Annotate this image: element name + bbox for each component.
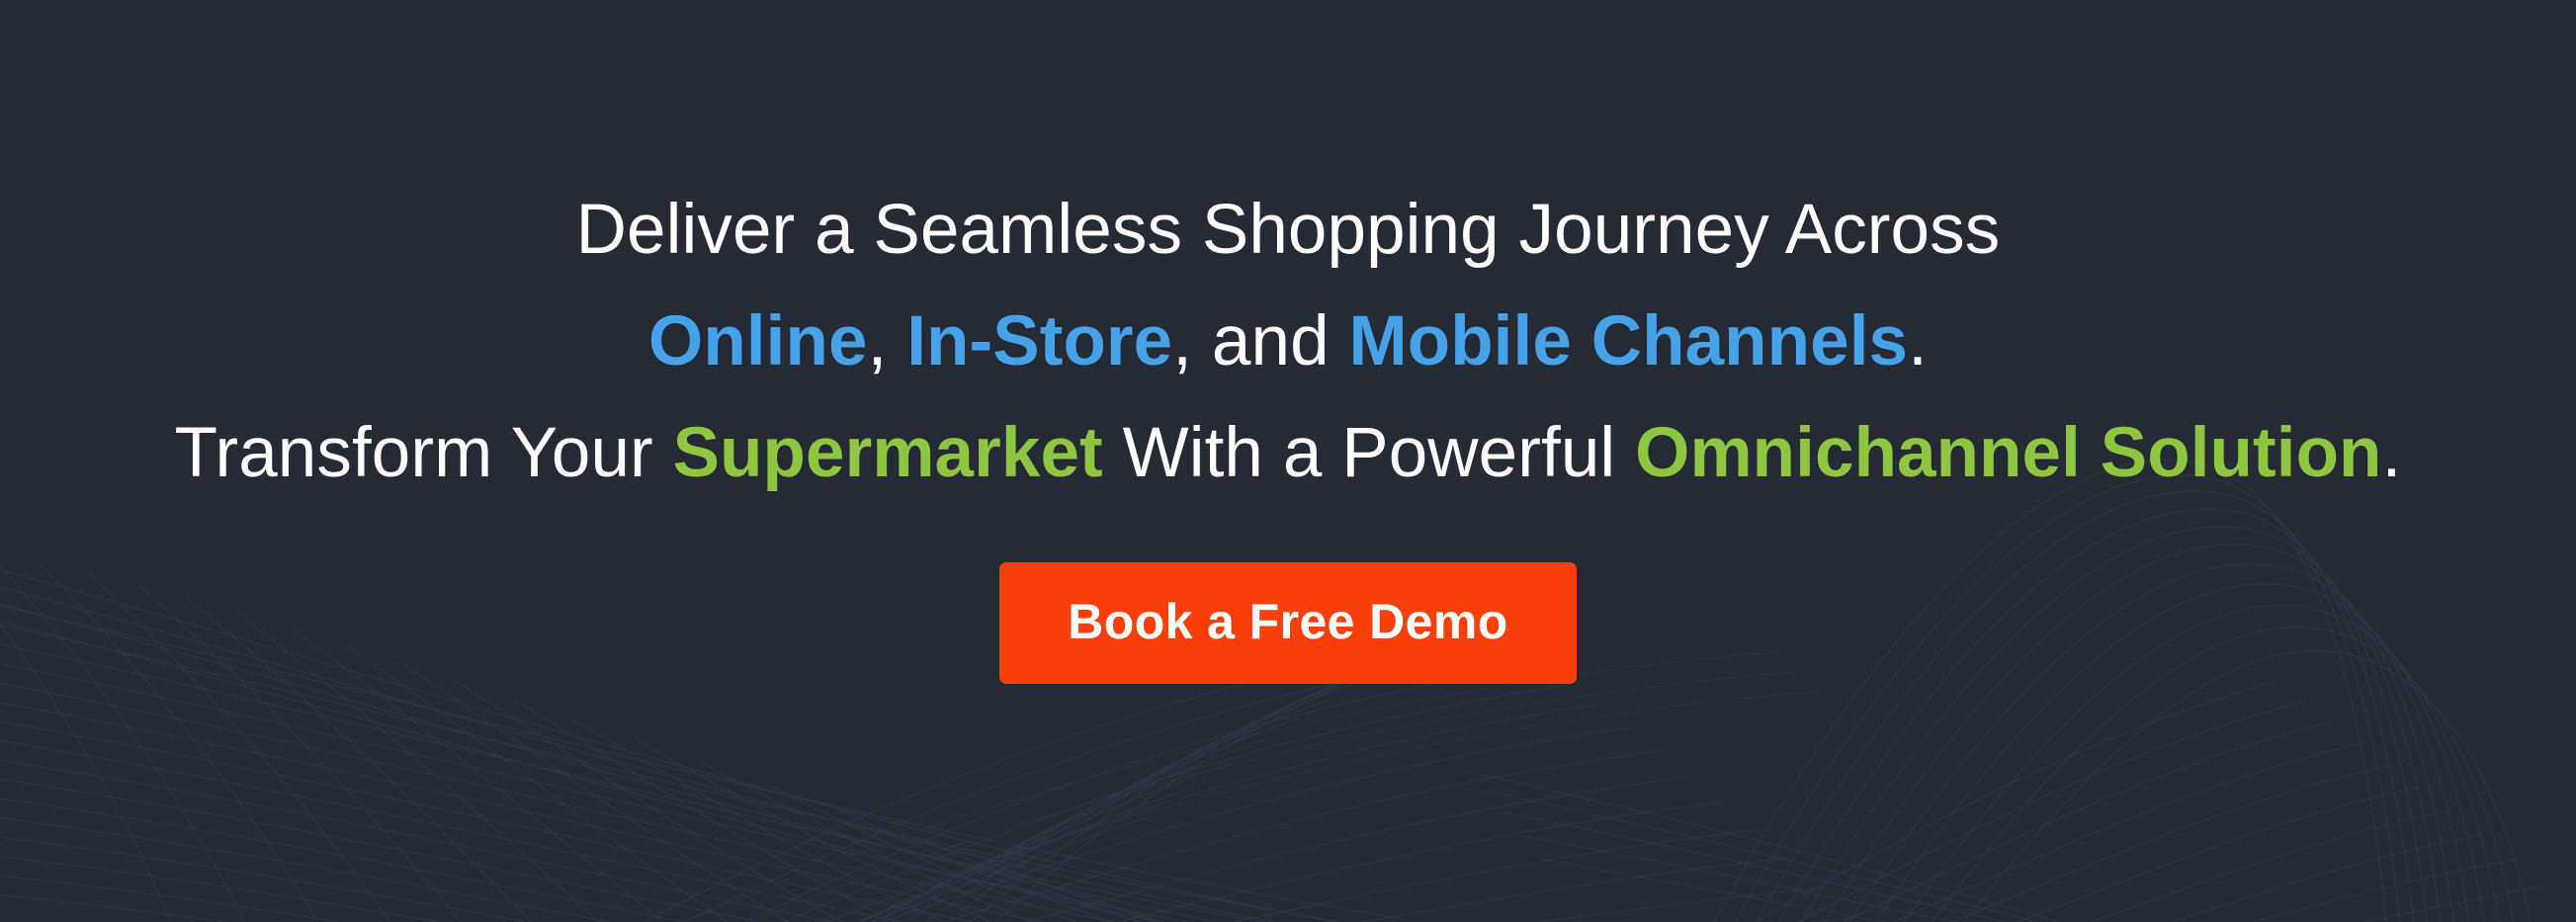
headline-line-2-sep-1: , bbox=[868, 302, 907, 380]
highlight-in-store: In-Store bbox=[906, 302, 1172, 380]
promo-banner: Deliver a Seamless Shopping Journey Acro… bbox=[0, 0, 2576, 922]
book-a-free-demo-button[interactable]: Book a Free Demo bbox=[999, 562, 1577, 684]
headline-line-1-text: Deliver a Seamless Shopping Journey Acro… bbox=[576, 191, 2001, 269]
headline-line-2-sep-2: , and bbox=[1172, 302, 1348, 380]
headline-line-2: Online, In-Store, and Mobile Channels. bbox=[0, 286, 2576, 397]
headline-line-3-prefix: Transform Your bbox=[175, 414, 673, 492]
highlight-online: Online bbox=[648, 302, 868, 380]
highlight-omnichannel-solution: Omnichannel Solution bbox=[1635, 414, 2381, 492]
highlight-mobile-channels: Mobile Channels bbox=[1349, 302, 1909, 380]
banner-content: Deliver a Seamless Shopping Journey Acro… bbox=[0, 0, 2576, 922]
headline-line-3: Transform Your Supermarket With a Powerf… bbox=[0, 397, 2576, 509]
headline-line-1: Deliver a Seamless Shopping Journey Acro… bbox=[0, 174, 2576, 286]
highlight-supermarket: Supermarket bbox=[673, 414, 1103, 492]
headline-line-3-period: . bbox=[2382, 414, 2402, 492]
cta-container: Book a Free Demo bbox=[0, 562, 2576, 684]
headline-line-2-period: . bbox=[1908, 302, 1928, 380]
headline-line-3-middle: With a Powerful bbox=[1103, 414, 1635, 492]
